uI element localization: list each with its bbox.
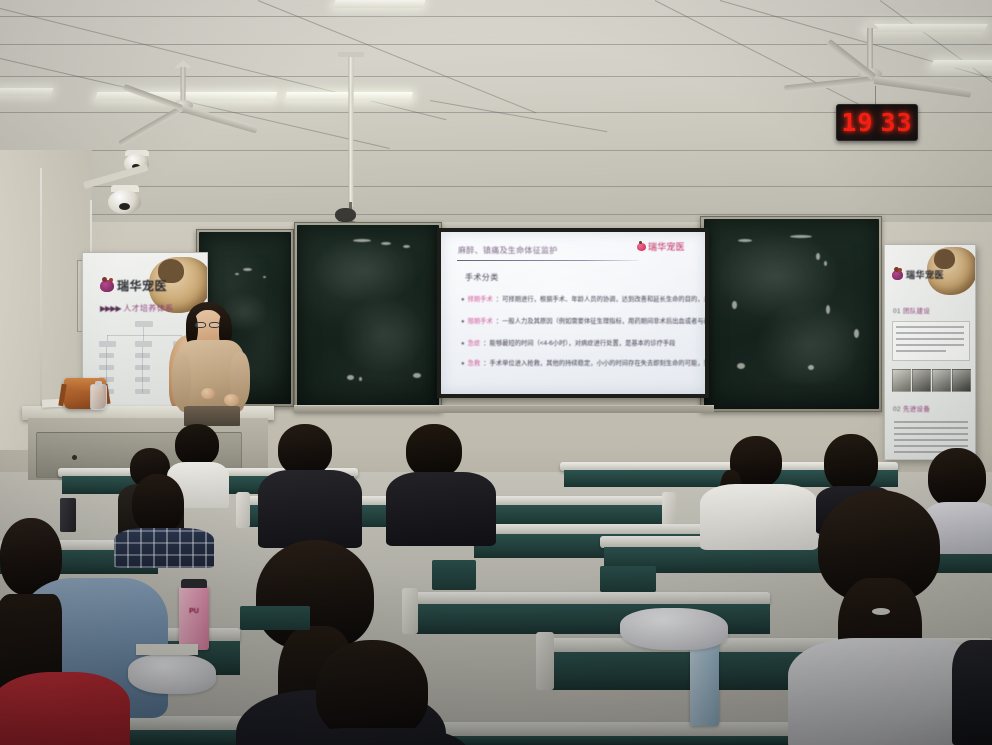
banner-arrows-icon: ▶▶▶▶ bbox=[100, 304, 121, 313]
seat-back bbox=[240, 606, 310, 630]
chalkboard-panel-center bbox=[297, 225, 439, 409]
fan-blade bbox=[181, 105, 258, 133]
slide-brand-logo: 瑞华宠医 bbox=[637, 240, 685, 253]
desk-end-cap bbox=[536, 632, 554, 690]
roll-up-banner-right: 瑞华宠医 01 团队建设 02 先进设备 bbox=[884, 244, 976, 460]
bottle-cap bbox=[181, 579, 206, 588]
paper-on-desk bbox=[136, 644, 198, 655]
white-jacket-on-desk bbox=[128, 654, 216, 694]
lecturer-hand bbox=[224, 394, 239, 406]
banner-logo: 瑞华宠医 bbox=[892, 268, 944, 281]
banner-photo-thumb bbox=[892, 369, 911, 392]
banner-brand-name: 瑞华宠医 bbox=[906, 268, 944, 281]
ceiling-fan bbox=[790, 20, 990, 110]
brand-mark-icon bbox=[100, 280, 114, 292]
slide-heading: 手术分类 bbox=[465, 272, 499, 283]
ceiling-fan bbox=[108, 60, 258, 130]
bullet-keyword: 急救 bbox=[468, 358, 481, 367]
lecturer-hand bbox=[201, 388, 215, 399]
banner-section-heading: 02 先进设备 bbox=[893, 403, 930, 413]
seat-back bbox=[432, 560, 476, 590]
banner-photo-thumb bbox=[952, 369, 971, 392]
banner-photo-thumb bbox=[912, 369, 931, 392]
ceiling-light-panel bbox=[0, 88, 54, 96]
ceiling-light-panel bbox=[333, 0, 426, 8]
slide-bullet: ● 限期手术 ：一般人力及其原因（例如需要体征生理指标，用药期间非术后出血或者与… bbox=[461, 316, 699, 325]
banner-logo: 瑞华宠医 bbox=[100, 277, 167, 294]
fan-blade bbox=[123, 84, 183, 111]
banner-subtitle: 人才培养体系 bbox=[123, 304, 173, 313]
section-number: 01 bbox=[893, 308, 901, 315]
white-jacket-on-desk bbox=[620, 608, 728, 650]
water-bottle bbox=[90, 384, 107, 410]
chalk-tray bbox=[294, 405, 714, 413]
lecture-hall-scene: 19 33 bbox=[0, 0, 992, 745]
desk-end-cap bbox=[662, 492, 676, 528]
banner-section-heading: 01 团队建设 bbox=[893, 305, 930, 315]
bullet-keyword: 择期手术 bbox=[468, 294, 493, 303]
fan-blade bbox=[873, 76, 971, 98]
projector-ceiling-mount bbox=[336, 52, 366, 227]
lecturer-arm bbox=[172, 352, 191, 408]
eyeglasses-icon bbox=[209, 322, 220, 328]
desk-end-cap bbox=[402, 588, 418, 634]
banner-subtitle-row: ▶▶▶▶ 人才培养体系 bbox=[100, 303, 174, 314]
slide-bullet: ● 急救 ：手术单位进入抢救，其他的持续稳定，小小的时间存在失去即刻生命的可能，… bbox=[461, 358, 699, 367]
bullet-dot-icon: ● bbox=[461, 361, 465, 367]
bullet-text: ：能够最短的时间（<4-6小时），对病症进行处置，是基本的诊疗手段 bbox=[483, 338, 675, 347]
section-number: 02 bbox=[893, 406, 901, 413]
bullet-text: ：手术单位进入抢救，其他的持续稳定，小小的时间存在失去即刻生命的可能，要尽快进入… bbox=[483, 358, 705, 367]
slide-title: 麻醉、镇痛及生命体征监护 bbox=[458, 245, 558, 256]
security-dome-camera bbox=[105, 185, 145, 217]
bullet-dot-icon: ● bbox=[461, 319, 465, 325]
slide-bullet: ● 择期手术 ：可择期进行，根据手术、年龄人员的协调，达到改善和延长生命的目的，… bbox=[461, 294, 699, 303]
brand-mark-icon bbox=[892, 270, 903, 280]
banner-photo-thumb bbox=[932, 369, 951, 392]
bullet-keyword: 限期手术 bbox=[468, 316, 493, 325]
clock-minutes: 33 bbox=[881, 108, 913, 137]
projector bbox=[335, 208, 356, 222]
pink-water-bottle: PU bbox=[179, 586, 209, 650]
seat-back bbox=[600, 566, 656, 592]
desk-end-cap bbox=[236, 492, 250, 528]
clock-hours: 19 bbox=[841, 108, 873, 137]
slide-logo-text: 瑞华宠医 bbox=[648, 240, 685, 253]
bullet-text: ：一般人力及其原因（例如需要体征生理指标，用药期间非术后出血或者与药）或者是被迫… bbox=[496, 316, 705, 325]
bullet-keyword: 急症 bbox=[468, 338, 481, 347]
banner-brand-name: 瑞华宠医 bbox=[117, 277, 167, 294]
lectern-knob bbox=[72, 455, 77, 460]
chalkboard-panel-right bbox=[704, 219, 879, 409]
dark-bottle bbox=[60, 498, 76, 532]
eyeglasses-icon bbox=[195, 322, 206, 328]
bullet-dot-icon: ● bbox=[461, 297, 465, 303]
brand-mark-icon bbox=[637, 243, 646, 251]
bullet-text: ：可择期进行，根据手术、年龄人员的协调，达到改善和延长生命的目的，未能挽救性生命… bbox=[496, 294, 705, 303]
slide-title-rule bbox=[457, 260, 639, 261]
section-label: 团队建设 bbox=[903, 308, 930, 315]
slide-bullet: ● 急症 ：能够最短的时间（<4-6小时），对病症进行处置，是基本的诊疗手段 bbox=[461, 338, 699, 347]
presentation-slide: 瑞华宠医 麻醉、镇痛及生命体征监护 手术分类 ● 择期手术 ：可择期进行，根据手… bbox=[441, 232, 705, 394]
lecturer-skirt bbox=[184, 406, 240, 426]
bullet-dot-icon: ● bbox=[461, 341, 465, 347]
fan-blade bbox=[118, 105, 183, 146]
bottle-label-text: PU bbox=[182, 608, 206, 616]
section-label: 先进设备 bbox=[903, 406, 930, 413]
digital-clock: 19 33 bbox=[836, 104, 918, 141]
lecturer bbox=[168, 302, 258, 424]
fan-blade bbox=[784, 76, 874, 92]
